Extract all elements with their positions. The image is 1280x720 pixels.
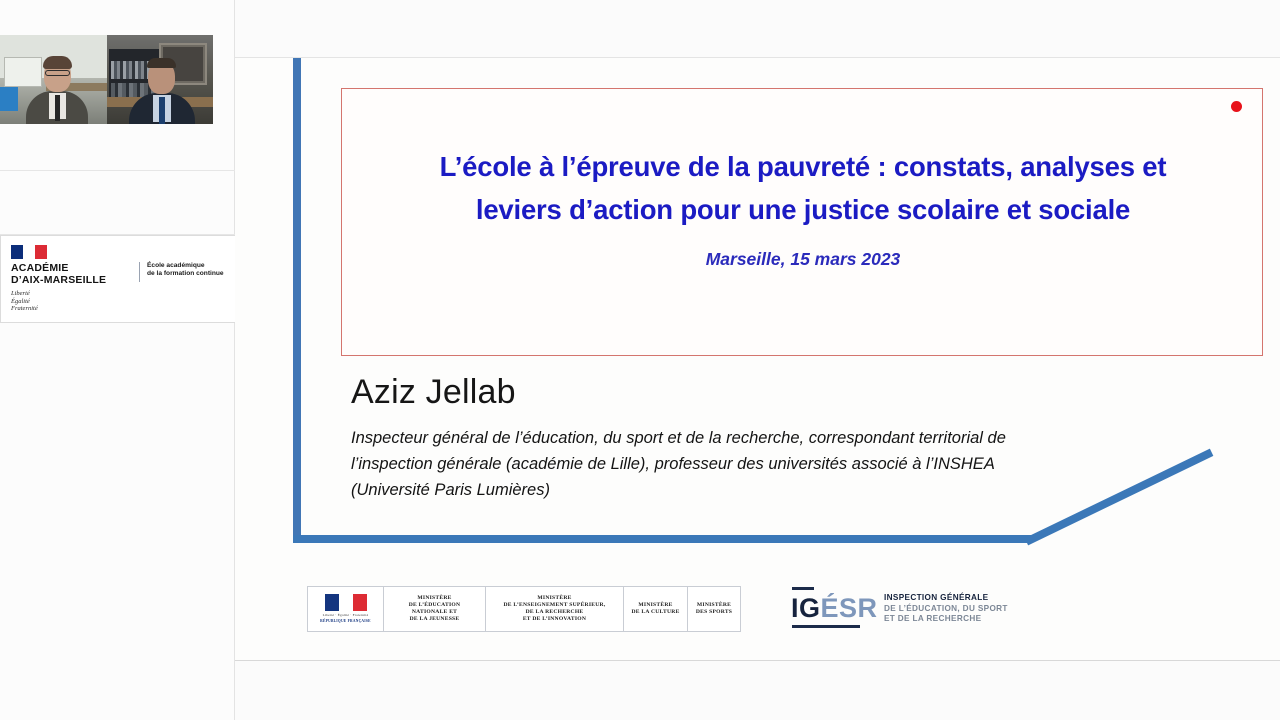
author-role-line2: l’inspection générale (académie de Lille…: [351, 451, 1176, 477]
tile1-person-hair: [43, 56, 72, 69]
decor-blue-horizontal-bar: [293, 535, 1033, 543]
igesr-fullname-line3: ET DE LA RECHERCHE: [884, 614, 1040, 625]
ministry-flag-cell: Liberté · Égalité · Fraternité RÉPUBLIQU…: [308, 587, 384, 631]
recording-indicator-icon: [1231, 101, 1242, 112]
author-name: Aziz Jellab: [351, 373, 516, 412]
french-flag-icon: [11, 245, 47, 259]
tile2-person-tie: [159, 97, 165, 124]
tile1-person-tie: [55, 95, 60, 121]
academy-subtitle-line1: École académique: [147, 262, 243, 270]
page-title-line2: leviers d’action pour une justice scolai…: [372, 188, 1234, 231]
tile1-whiteboard: [4, 57, 42, 87]
academy-logo-separator: [139, 262, 140, 282]
igesr-logo: IGÉSR INSPECTION GÉNÉRALE DE L’ÉDUCATION…: [788, 585, 1040, 633]
republic-motto: Liberté Égalité Fraternité: [11, 290, 239, 313]
igesr-rule-bottom: [792, 625, 860, 628]
igesr-fullname-line2: DE L’ÉDUCATION, DU SPORT: [884, 604, 1040, 615]
participant-tile-2[interactable]: [107, 35, 213, 124]
motto-fraternite: Fraternité: [11, 305, 239, 313]
igesr-rule-top: [792, 587, 814, 590]
video-conference-rail: ACADÉMIE D’AIX-MARSEILLE Liberté Égalité…: [0, 0, 235, 720]
ministry-flag-republic: RÉPUBLIQUE FRANÇAISE: [320, 619, 371, 623]
motto-egalite: Égalité: [11, 298, 239, 306]
french-flag-icon: [325, 594, 367, 611]
tile2-person-hair: [147, 58, 176, 68]
slide-date: Marseille, 15 mars 2023: [372, 249, 1234, 270]
igesr-fullname-line1: INSPECTION GÉNÉRALE: [884, 593, 1040, 604]
author-role: Inspecteur général de l’éducation, du sp…: [351, 425, 1176, 503]
tile1-monitor: [0, 87, 18, 111]
author-role-line3: (Université Paris Lumières): [351, 477, 1176, 503]
slide-canvas[interactable]: L’école à l’épreuve de la pauvreté : con…: [235, 58, 1280, 660]
page-title-line1: L’école à l’épreuve de la pauvreté : con…: [372, 145, 1234, 188]
ministry-flag-motto: Liberté · Égalité · Fraternité: [323, 613, 369, 617]
presentation-stage: L’école à l’épreuve de la pauvreté : con…: [235, 0, 1280, 720]
ministry-sports: MINISTÈRE DES SPORTS: [688, 587, 740, 631]
title-card: L’école à l’épreuve de la pauvreté : con…: [341, 88, 1263, 356]
decor-blue-vertical-bar: [293, 58, 301, 543]
ministry-higher-education: MINISTÈRE DE L’ENSEIGNEMENT SUPÉRIEUR, D…: [486, 587, 624, 631]
ministries-logo-block: Liberté · Égalité · Fraternité RÉPUBLIQU…: [307, 586, 741, 632]
academy-subtitle-line2: de la formation continue: [147, 270, 243, 278]
igesr-acronym-light: ÉSR: [821, 593, 878, 623]
stage-bottom-divider: [235, 660, 1280, 661]
screen-root: ACADÉMIE D’AIX-MARSEILLE Liberté Égalité…: [0, 0, 1280, 720]
igesr-acronym-dark: IG: [791, 593, 821, 623]
ministry-culture: MINISTÈRE DE LA CULTURE: [624, 587, 688, 631]
page-title: L’école à l’épreuve de la pauvreté : con…: [372, 145, 1234, 231]
rail-divider-upper: [0, 170, 235, 171]
motto-liberte: Liberté: [11, 290, 239, 298]
tile1-person-glasses: [45, 70, 70, 76]
participant-tile-1[interactable]: [0, 35, 107, 124]
participant-video-grid[interactable]: [0, 35, 213, 124]
igesr-acronym: IGÉSR: [791, 593, 878, 623]
ministry-education: MINISTÈRE DE L’ÉDUCATION NATIONALE ET DE…: [384, 587, 486, 631]
igesr-fullname: INSPECTION GÉNÉRALE DE L’ÉDUCATION, DU S…: [884, 593, 1040, 625]
author-role-line1: Inspecteur général de l’éducation, du sp…: [351, 425, 1176, 451]
academy-subtitle: École académique de la formation continu…: [147, 262, 243, 279]
academy-logo-card: ACADÉMIE D’AIX-MARSEILLE Liberté Égalité…: [0, 235, 250, 323]
